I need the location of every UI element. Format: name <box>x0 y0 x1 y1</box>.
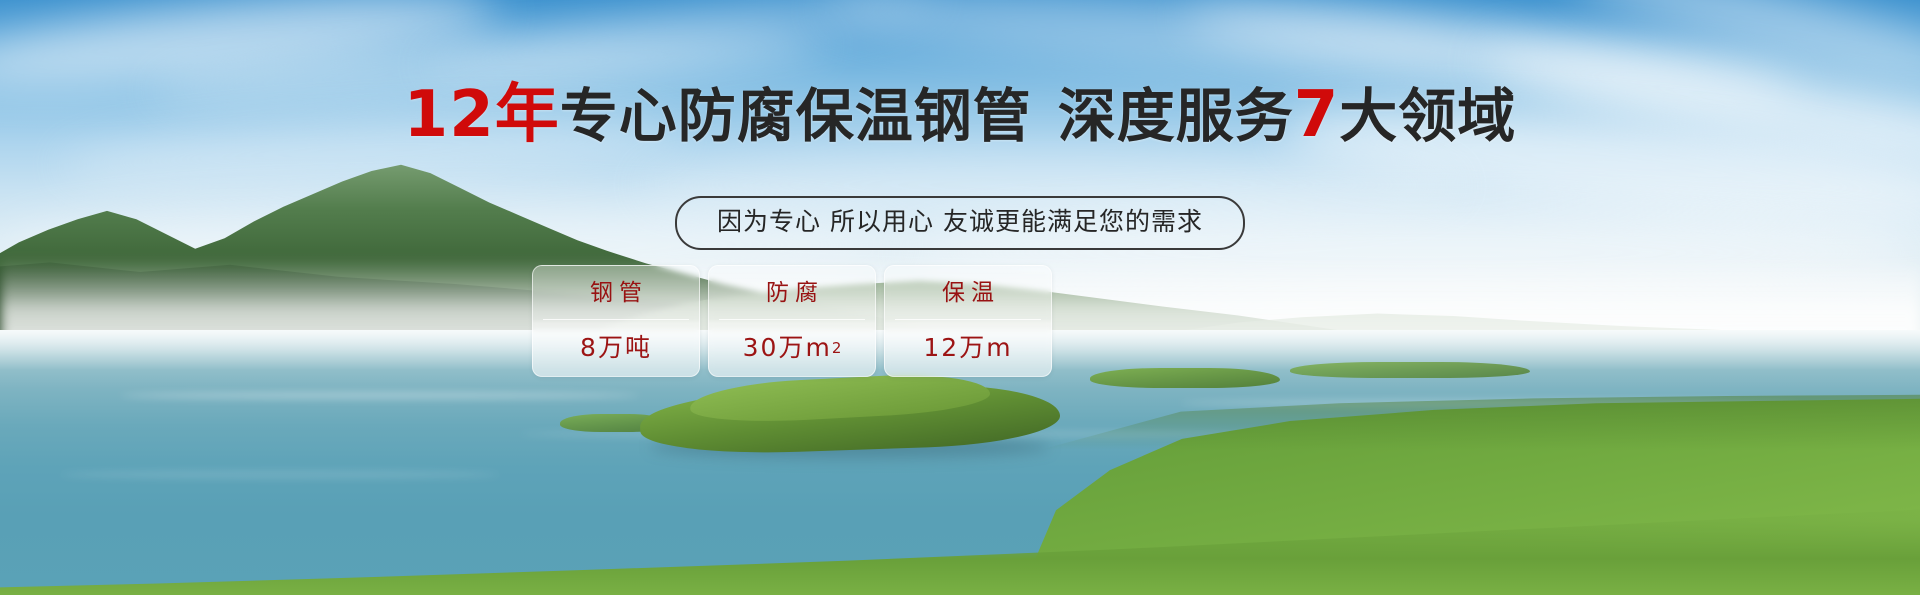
hero-banner: 12年专心防腐保温钢管深度服务7大领域 因为专心 所以用心 友诚更能满足您的需求… <box>0 0 1920 595</box>
small-islet <box>1290 362 1530 378</box>
banner-headline: 12年专心防腐保温钢管深度服务7大领域 <box>0 82 1920 149</box>
subheadline-container: 因为专心 所以用心 友诚更能满足您的需求 <box>0 196 1920 250</box>
small-islet <box>1090 368 1280 388</box>
stat-card-group: 钢管 8万吨 防腐 30万m2 保温 12万m <box>532 265 1052 377</box>
headline-years: 12年 <box>404 78 560 152</box>
water-ripple <box>120 392 640 399</box>
stat-card-value-text: 12万m <box>923 334 1012 362</box>
headline-main-phrase: 专心防腐保温钢管 <box>560 82 1032 150</box>
stat-card-value: 12万m <box>923 319 1012 376</box>
stat-card-value-superscript: 2 <box>832 334 842 362</box>
stat-card-anticorrosion: 防腐 30万m2 <box>708 265 876 377</box>
stat-card-value: 8万吨 <box>580 319 652 376</box>
stat-card-value: 30万m2 <box>743 319 842 376</box>
stat-card-title: 钢管 <box>584 266 648 319</box>
subheadline-pill: 因为专心 所以用心 友诚更能满足您的需求 <box>675 196 1245 250</box>
water-ripple <box>60 470 500 479</box>
stat-card-steel-pipe: 钢管 8万吨 <box>532 265 700 377</box>
headline-service-text: 深度服务 <box>1058 82 1294 150</box>
stat-card-title: 保温 <box>936 266 1000 319</box>
stat-card-insulation: 保温 12万m <box>884 265 1052 377</box>
headline-field-suffix: 大领域 <box>1339 82 1516 150</box>
stat-card-value-text: 30万m <box>743 334 832 362</box>
headline-field-count: 7 <box>1294 78 1340 152</box>
stat-card-value-text: 8万吨 <box>580 334 652 362</box>
stat-card-title: 防腐 <box>760 266 824 319</box>
